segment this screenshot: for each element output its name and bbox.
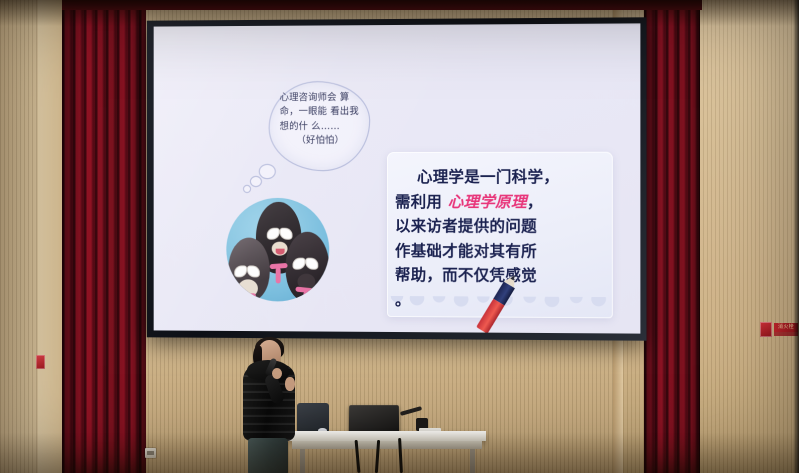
thought-bubble-text: 心理咨询师会 算命，一眼能 看出我想的什 么…… （好怕怕） (272, 83, 367, 149)
projection-screen-frame: 心理咨询师会 算命，一眼能 看出我想的什 么…… （好怕怕） (147, 17, 647, 340)
lens-left (268, 228, 279, 238)
projected-slide: 心理咨询师会 算命，一眼能 看出我想的什 么…… （好怕怕） (154, 23, 641, 333)
dog-photo (226, 198, 329, 302)
note-highlight-term: 心理学原理 (448, 193, 527, 211)
ceiling-shadow (0, 0, 799, 26)
lens-right (306, 258, 317, 268)
lens-right (248, 266, 259, 276)
stage-curtain-left (62, 0, 146, 473)
presenter-hand-mic (272, 368, 282, 379)
sunglasses-icon-center (268, 228, 291, 239)
sunglasses-icon-right (294, 258, 317, 269)
dog-harness-right-strap (303, 292, 308, 302)
note-line-2-prefix: 需利用 (395, 193, 448, 211)
bubble-line-1: 心理咨询师会 (280, 92, 337, 103)
thought-bubble-lobe-large (260, 165, 275, 178)
note-line-2: 需利用 心理学原理， (395, 190, 609, 215)
note-line-4: 作基础才能对其有所 (395, 239, 609, 264)
bubble-line-last: （好怕怕） (280, 134, 361, 148)
thought-bubble-lobe-small (244, 186, 250, 192)
sunglasses-icon-left (235, 265, 258, 276)
note-line-2-suffix: ， (527, 193, 543, 211)
laptop-screen (349, 405, 399, 434)
dog-harness-left (238, 293, 256, 298)
floor-shadow (0, 433, 799, 473)
presenter-hand-gesture (285, 377, 295, 391)
lens-left (235, 266, 246, 276)
thought-bubble-lobe-medium (251, 177, 261, 186)
fire-hydrant-box (760, 322, 772, 337)
dog-harness-center-strap (276, 268, 281, 284)
right-edge-shadow (793, 0, 799, 473)
stage-curtain-right (644, 0, 700, 473)
lens-right (280, 228, 291, 238)
dog-center-mouth (276, 249, 285, 255)
note-line-1: 心理学是一门科学， (395, 165, 609, 190)
bubble-line-4: 么…… (311, 121, 340, 132)
note-line-3: 以来访者提供的问题 (395, 214, 609, 239)
fire-alarm-indicator (36, 355, 45, 369)
lens-left (294, 258, 305, 268)
lecture-hall-scene: 心理咨询师会 算命，一眼能 看出我想的什 么…… （好怕怕） (0, 0, 799, 473)
